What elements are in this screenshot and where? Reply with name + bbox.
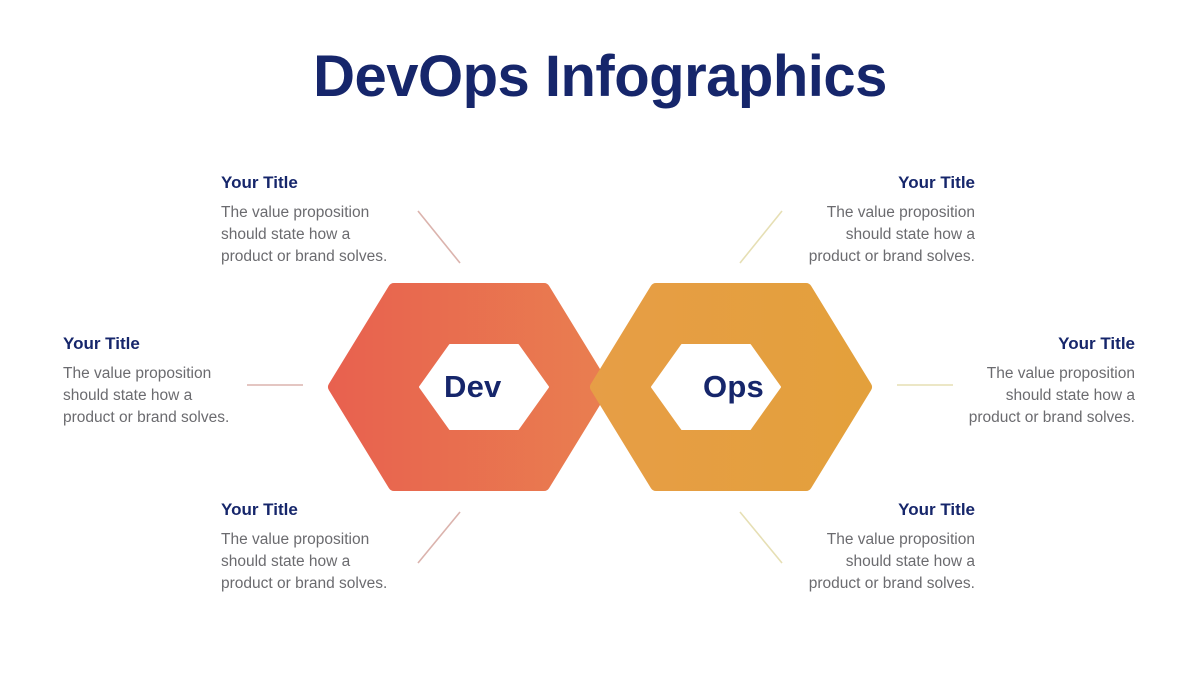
ops-loop-label: Ops xyxy=(703,369,764,405)
info-block-title: Your Title xyxy=(221,500,451,520)
info-block-bottom-right[interactable]: Your Title The value proposition should … xyxy=(760,500,975,595)
slide-canvas: DevOps Infographics xyxy=(0,0,1200,675)
info-block-top-left[interactable]: Your Title The value proposition should … xyxy=(221,173,451,268)
info-block-body: The value proposition should state how a… xyxy=(221,529,451,595)
info-block-body: The value proposition should state how a… xyxy=(63,363,278,429)
devops-infinity-diagram: Dev Ops xyxy=(322,283,878,491)
info-block-body: The value proposition should state how a… xyxy=(760,529,975,595)
info-block-title: Your Title xyxy=(760,500,975,520)
info-block-middle-left[interactable]: Your Title The value proposition should … xyxy=(63,334,278,429)
ops-loop-fill xyxy=(322,283,878,491)
info-block-middle-right[interactable]: Your Title The value proposition should … xyxy=(930,334,1135,429)
info-block-title: Your Title xyxy=(221,173,451,193)
info-block-bottom-left[interactable]: Your Title The value proposition should … xyxy=(221,500,451,595)
info-block-title: Your Title xyxy=(930,334,1135,354)
info-block-body: The value proposition should state how a… xyxy=(930,363,1135,429)
page-title: DevOps Infographics xyxy=(0,44,1200,111)
info-block-title: Your Title xyxy=(63,334,278,354)
info-block-title: Your Title xyxy=(760,173,975,193)
info-block-body: The value proposition should state how a… xyxy=(221,202,451,268)
dev-loop-label: Dev xyxy=(444,369,501,405)
info-block-top-right[interactable]: Your Title The value proposition should … xyxy=(760,173,975,268)
infinity-shape-svg xyxy=(322,283,878,491)
info-block-body: The value proposition should state how a… xyxy=(760,202,975,268)
